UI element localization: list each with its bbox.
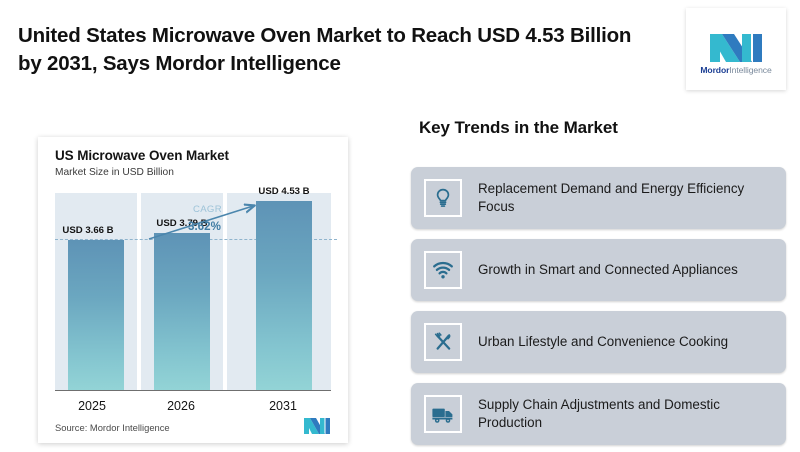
page-title: United States Microwave Oven Market to R…: [18, 22, 658, 78]
cagr-arrow-icon: [147, 199, 265, 241]
brand-word-mordor: Mordor: [700, 65, 729, 75]
trend-card-urban-lifestyle[interactable]: Urban Lifestyle and Convenience Cooking: [411, 311, 786, 373]
x-axis-line: [55, 390, 331, 391]
trend-card-supply-chain[interactable]: Supply Chain Adjustments and Domestic Pr…: [411, 383, 786, 445]
x-axis-label-2026: 2026: [144, 399, 218, 413]
wifi-icon: [424, 251, 462, 289]
fork-knife-icon: [424, 323, 462, 361]
bar-chart-plot: USD 3.66 B USD 3.79 B USD 4.53 B CAGR 3.…: [55, 193, 331, 391]
brand-word-intelligence: Intelligence: [729, 65, 771, 75]
mi-monogram-small-icon: [302, 416, 332, 435]
trend-card-replacement-demand[interactable]: Replacement Demand and Energy Efficiency…: [411, 167, 786, 229]
chart-title: US Microwave Oven Market: [55, 148, 229, 163]
chart-source: Source: Mordor Intelligence: [55, 422, 170, 433]
lightbulb-icon: [424, 179, 462, 217]
trend-card-smart-appliances[interactable]: Growth in Smart and Connected Appliances: [411, 239, 786, 301]
trend-label: Supply Chain Adjustments and Domestic Pr…: [478, 396, 774, 432]
trend-label: Replacement Demand and Energy Efficiency…: [478, 180, 774, 216]
bar-value-label: USD 3.66 B: [51, 225, 125, 236]
trends-heading: Key Trends in the Market: [419, 118, 618, 138]
brand-logo: MordorIntelligence: [686, 8, 786, 90]
chart-subtitle: Market Size in USD Billion: [55, 167, 174, 178]
delivery-truck-icon: [424, 395, 462, 433]
x-axis-label-2025: 2025: [55, 399, 129, 413]
chart-card: US Microwave Oven Market Market Size in …: [38, 137, 348, 443]
trend-label: Growth in Smart and Connected Appliances: [478, 261, 738, 279]
mi-monogram-icon: [708, 24, 764, 62]
bar-value-label: USD 4.53 B: [247, 186, 321, 197]
brand-wordmark: MordorIntelligence: [700, 65, 771, 75]
trend-label: Urban Lifestyle and Convenience Cooking: [478, 333, 728, 351]
x-axis-label-2031: 2031: [246, 399, 320, 413]
bar-2025: [68, 240, 124, 391]
bar-2026: [154, 233, 210, 391]
